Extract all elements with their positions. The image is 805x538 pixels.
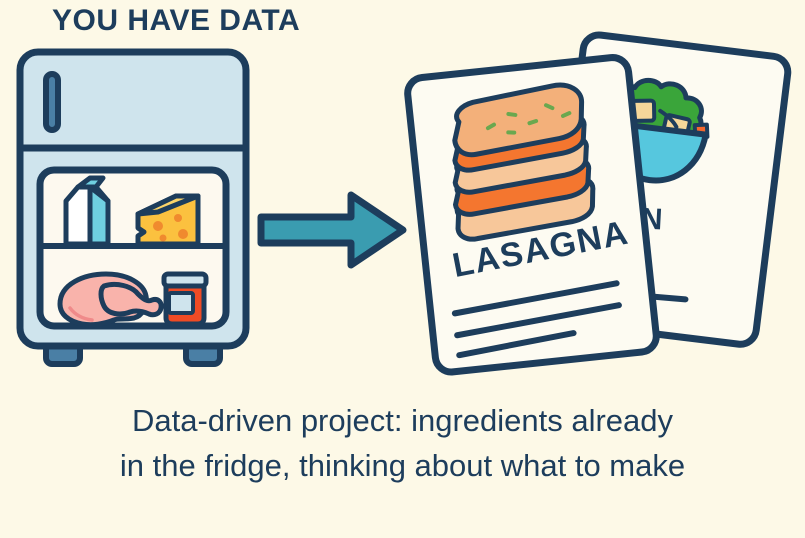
jam-jar-icon [164,274,206,324]
lasagna-stack-icon [444,83,597,241]
recipe-card-lasagna: LASAGNA [406,56,658,374]
caption: Data-driven project: ingredients already… [0,398,805,488]
caption-line-2: in the fridge, thinking about what to ma… [0,443,805,488]
right-arrow-icon [261,195,403,265]
page-title: YOU HAVE DATA [52,4,300,38]
illustration-canvas: YOU HAVE DATA [0,0,805,538]
arrow-illustration [255,185,415,275]
fridge-illustration [8,46,258,376]
caption-line-1: Data-driven project: ingredients already [0,398,805,443]
recipe-cards-illustration: KEN D [398,14,798,384]
freezer-door-handle [46,74,58,130]
